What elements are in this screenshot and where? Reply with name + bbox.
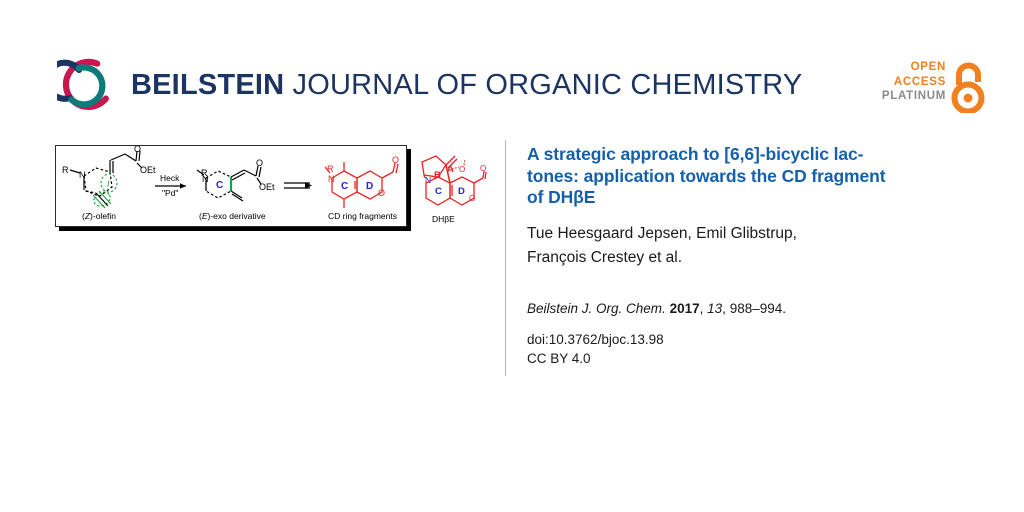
doi-link[interactable]: doi:10.3762/bjoc.13.98 — [527, 330, 975, 349]
label-I-left: I — [107, 179, 110, 189]
oa-line-open: OPEN — [882, 60, 946, 75]
arrow-label-below: "Pd" — [162, 188, 178, 198]
label-N-left: N — [79, 170, 86, 180]
dhbe-structure-panel: N O O O B A C D DHβE — [412, 145, 492, 230]
arrow-double — [284, 182, 312, 189]
label-N-middle: N — [202, 174, 209, 184]
label-O-middle: O — [256, 158, 263, 168]
ring-label-C-right: C — [341, 181, 348, 192]
beilstein-circles-logo — [57, 56, 115, 114]
title-line-3: of DHβE — [527, 187, 595, 207]
label-R-left: R — [62, 165, 69, 175]
ring-label-D-dhbe: D — [458, 186, 465, 197]
label-OEt-middle: OEt — [259, 182, 275, 192]
open-access-label: OPEN ACCESS PLATINUM — [882, 60, 946, 104]
doi-text: doi:10.3762/bjoc.13.98 — [527, 332, 664, 347]
label-O-carbonyl-dhbe: O — [480, 164, 486, 173]
title-line-2: tones: application towards the CD fragme… — [527, 166, 885, 186]
caption-left: (Z)-olefin — [82, 211, 116, 221]
citation-volume: 13 — [707, 301, 722, 316]
citation-journal: Beilstein J. Org. Chem. — [527, 301, 666, 316]
label-N-right: N — [328, 174, 335, 184]
label-O-methoxy-dhbe: O — [459, 165, 465, 174]
label-OEt-left: OEt — [140, 165, 156, 175]
title-line-1: A strategic approach to [6,6]-bicyclic l… — [527, 144, 863, 164]
caption-middle: (E)-exo derivative — [199, 211, 266, 221]
open-access-badge: OPEN ACCESS PLATINUM — [878, 60, 986, 118]
label-O-ring-dhbe: O — [469, 194, 475, 203]
ring-label-A-dhbe: A — [447, 164, 454, 175]
ring-label-D-right: D — [366, 181, 373, 192]
authors-line-2: François Crestey et al. — [527, 249, 682, 266]
oa-line-access: ACCESS — [882, 75, 946, 90]
citation-pages: 988–994. — [730, 301, 786, 316]
arrow-heck: Heck "Pd" — [155, 173, 186, 198]
open-padlock-icon — [950, 61, 986, 113]
label-O-ring-right: O — [378, 188, 385, 198]
ring-label-C-middle: C — [216, 180, 223, 191]
citation-line: Beilstein J. Org. Chem. 2017, 13, 988–99… — [527, 300, 975, 318]
license-text: CC BY 4.0 — [527, 351, 591, 366]
ring-label-B-dhbe: B — [434, 170, 441, 181]
oa-line-platinum: PLATINUM — [882, 89, 946, 104]
label-R-right: R — [327, 164, 334, 174]
reaction-scheme: R N O OEt I He — [56, 146, 404, 224]
label-O-carbonyl-right: O — [392, 155, 399, 165]
structure-cd-fragments: R N O O C D — [325, 155, 399, 208]
graphical-abstract-box: R N O OEt I He — [55, 145, 407, 227]
label-O-left: O — [134, 146, 141, 154]
wordmark-subtitle: JOURNAL OF ORGANIC CHEMISTRY — [284, 69, 802, 101]
structure-e-exo: R N C O OEt — [197, 158, 275, 201]
license-label[interactable]: CC BY 4.0 — [527, 349, 975, 368]
column-divider — [505, 140, 506, 376]
masthead: BEILSTEIN JOURNAL OF ORGANIC CHEMISTRY O… — [0, 0, 1024, 130]
dhbe-skeleton: N O O O B A C D — [422, 156, 486, 205]
citation-comma-2: , — [722, 301, 726, 316]
ring-label-C-dhbe: C — [435, 186, 442, 197]
authors-line-1: Tue Heesgaard Jepsen, Emil Glibstrup, — [527, 225, 797, 242]
arrow-label-above: Heck — [160, 173, 180, 183]
dhbe-caption: DHβE — [432, 214, 455, 224]
structure-z-olefin: R N O OEt I — [62, 146, 156, 209]
journal-wordmark: BEILSTEIN JOURNAL OF ORGANIC CHEMISTRY — [131, 68, 802, 102]
article-title[interactable]: A strategic approach to [6,6]-bicyclic l… — [527, 144, 975, 209]
author-list: Tue Heesgaard Jepsen, Emil Glibstrup, Fr… — [527, 222, 975, 270]
citation-comma-1: , — [700, 301, 704, 316]
citation-year: 2017 — [670, 301, 700, 316]
caption-right: CD ring fragments — [328, 211, 397, 221]
wordmark-beilstein: BEILSTEIN — [131, 69, 284, 101]
